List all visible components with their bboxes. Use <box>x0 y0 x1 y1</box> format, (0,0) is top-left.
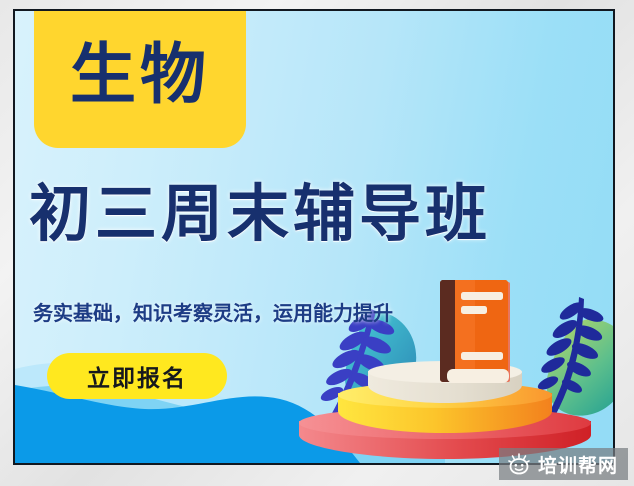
book-pages <box>447 369 509 383</box>
subject-badge-label: 生物 <box>70 42 210 108</box>
enroll-now-button[interactable]: 立即报名 <box>47 353 227 399</box>
enroll-now-label: 立即报名 <box>87 359 187 393</box>
sun-face-smile <box>515 469 522 470</box>
watermark: 培训帮网 <box>499 448 628 480</box>
sun-face-icon <box>507 453 531 475</box>
textbook-illustration <box>429 276 519 392</box>
sun-face-eye-left <box>514 464 517 467</box>
book-title-line-2 <box>461 306 487 314</box>
watermark-text: 培训帮网 <box>538 451 618 478</box>
subject-badge: 生物 <box>34 9 246 148</box>
promotional-banner: 生物 初三周末辅导班 务实基础，知识考察灵活，运用能力提升 立即报名 <box>13 9 615 465</box>
book-title-line-1 <box>461 292 503 300</box>
book-title-line-3 <box>461 352 503 360</box>
subtitle-text: 务实基础，知识考察灵活，运用能力提升 <box>33 297 393 326</box>
page-background: 生物 初三周末辅导班 务实基础，知识考察灵活，运用能力提升 立即报名 培训帮网 <box>0 0 634 486</box>
headline-title: 初三周末辅导班 <box>29 179 609 248</box>
book-spine <box>440 280 455 382</box>
sun-face-outline <box>510 459 527 474</box>
sun-face-eye-right <box>521 464 524 467</box>
